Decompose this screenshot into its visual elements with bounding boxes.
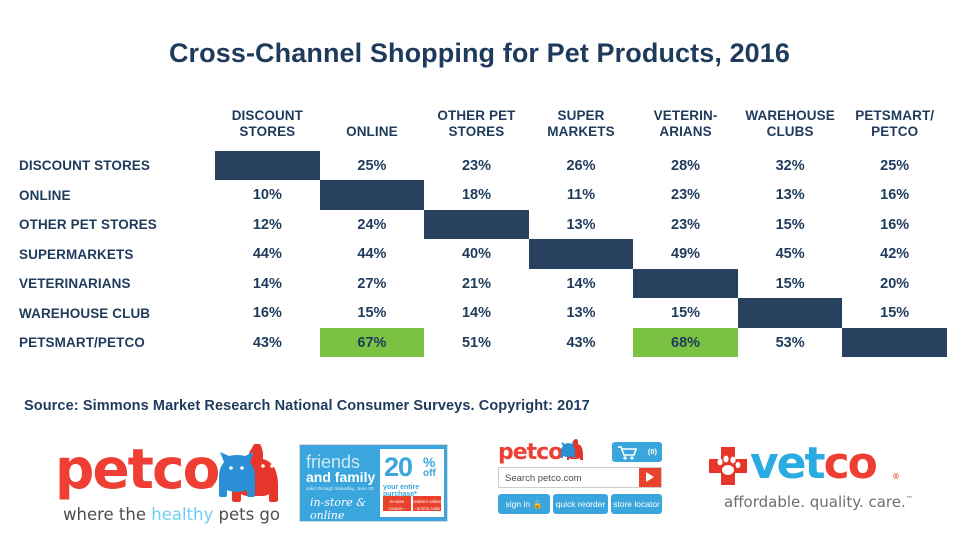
vetco-wordmark: vetco (750, 442, 876, 486)
table-row: ONLINE10%18%11%23%13%16% (12, 180, 947, 210)
matrix-cell: 49% (633, 239, 738, 269)
sign-in-button[interactable]: sign in 🔒 (498, 494, 550, 514)
header-line-2: STORES (239, 124, 295, 139)
header-line-1: WAREHOUSE (745, 108, 834, 123)
header-line-2: STORES (449, 124, 505, 139)
matrix-cell: 53% (738, 328, 843, 358)
row-label-veterinarians: VETERINARIANS (12, 269, 215, 299)
coupon-validity-text: valid through Saturday, June 20 (306, 486, 374, 491)
coupon-off-text: off (423, 469, 436, 479)
matrix-cell: 15% (842, 298, 947, 328)
matrix-cell: 24% (320, 210, 425, 240)
vetco-word-vet: vet (750, 438, 824, 489)
coupon-percent-sign: % (423, 455, 435, 469)
coupon-right-panel: 20 % off your entire purchase* in-store … (380, 449, 444, 517)
matrix-cell: 15% (738, 210, 843, 240)
matrix-cell-highlighted: 68% (633, 328, 738, 358)
row-label-discount-stores: DISCOUNT STORES (12, 151, 215, 181)
vetco-word-co: co (824, 438, 876, 489)
matrix-cell: 40% (424, 239, 529, 269)
in-store-coupon-button[interactable]: in-store coupon › (383, 496, 411, 511)
column-header-discount-stores: DISCOUNT STORES (215, 108, 320, 151)
redeem-online-button[interactable]: redeem online › promo code FRIEND (413, 496, 441, 511)
cross-shopping-matrix: DISCOUNT STORES ONLINE OTHER PET STORES … (12, 108, 947, 357)
table-row: PETSMART/PETCO43%67%51%43%68%53% (12, 328, 947, 358)
matrix-cell: 16% (842, 180, 947, 210)
corner-cell (12, 108, 215, 151)
vetco-logo: vetco ® affordable. quality. care.™ (708, 444, 913, 522)
matrix-cell: 26% (529, 151, 634, 181)
petco-wordmark: petco (55, 442, 218, 497)
friends-family-coupon-banner[interactable]: friends and family valid through Saturda… (299, 444, 448, 522)
slide-root: Cross-Channel Shopping for Pet Products,… (0, 0, 959, 539)
medical-cross-paw-icon (708, 446, 748, 486)
matrix-cell: 14% (529, 269, 634, 299)
search-placeholder-text: Search petco.com (505, 473, 582, 484)
tagline-before: where the (63, 505, 151, 524)
header-line-1: OTHER PET (437, 108, 515, 123)
matrix-cell: 27% (320, 269, 425, 299)
mobile-cat-dog-mascot-icon (558, 439, 585, 461)
row-label-other-pet-stores: OTHER PET STORES (12, 210, 215, 240)
petco-tagline: where the healthy pets go (63, 505, 280, 524)
vetco-registered-mark-icon: ® (893, 472, 899, 481)
lock-icon: 🔒 (532, 500, 542, 509)
matrix-cell: 43% (529, 328, 634, 358)
matrix-cell: 14% (215, 269, 320, 299)
row-label-supermarkets: SUPERMARKETS (12, 239, 215, 269)
header-line-2: PETCO (871, 124, 918, 139)
matrix-cell: 15% (320, 298, 425, 328)
matrix-body: DISCOUNT STORES25%23%26%28%32%25%ONLINE1… (12, 151, 947, 358)
header-line-2: CLUBS (767, 124, 814, 139)
matrix-cell: 23% (424, 151, 529, 181)
table-row: VETERINARIANS14%27%21%14%15%20% (12, 269, 947, 299)
matrix-cell-highlighted: 67% (320, 328, 425, 358)
store-locator-button[interactable]: store locator (611, 494, 662, 514)
matrix-cell: 23% (633, 180, 738, 210)
cart-count-label: (0) (648, 447, 657, 456)
matrix-cell: 16% (842, 210, 947, 240)
coupon-channel-text: in-store & online (310, 496, 378, 522)
page-title: Cross-Channel Shopping for Pet Products,… (0, 38, 959, 69)
column-header-veterinarians: VETERIN- ARIANS (633, 108, 738, 151)
matrix-cell: 44% (215, 239, 320, 269)
matrix-cell: 28% (633, 151, 738, 181)
vetco-tagline-text: affordable. quality. care. (724, 493, 906, 511)
source-note: Source: Simmons Market Research National… (24, 398, 590, 414)
matrix-cell-blocked (424, 210, 529, 240)
header-line-1: DISCOUNT (232, 108, 303, 123)
matrix-cell-blocked (320, 180, 425, 210)
matrix-cell: 18% (424, 180, 529, 210)
matrix-cell: 13% (529, 298, 634, 328)
matrix-cell: 14% (424, 298, 529, 328)
matrix-cell: 11% (529, 180, 634, 210)
matrix-cell: 25% (320, 151, 425, 181)
matrix-cell: 10% (215, 180, 320, 210)
header-line-1: VETERIN- (654, 108, 718, 123)
column-header-other-pet-stores: OTHER PET STORES (424, 108, 529, 151)
cat-dog-mascot-icon (210, 444, 282, 502)
matrix-cell: 45% (738, 239, 843, 269)
matrix-cell: 21% (424, 269, 529, 299)
cart-button[interactable]: (0) (612, 442, 662, 462)
matrix-cell: 15% (738, 269, 843, 299)
matrix-cell: 51% (424, 328, 529, 358)
matrix-cell-blocked (633, 269, 738, 299)
matrix-header-row: DISCOUNT STORES ONLINE OTHER PET STORES … (12, 108, 947, 151)
column-header-warehouse-clubs: WAREHOUSE CLUBS (738, 108, 843, 151)
matrix-cell-blocked (215, 151, 320, 181)
search-submit-button[interactable] (639, 468, 661, 487)
sign-in-label: sign in (506, 499, 531, 509)
matrix-cell: 44% (320, 239, 425, 269)
matrix-cell: 23% (633, 210, 738, 240)
coupon-discount-number: 20 (384, 454, 412, 481)
coupon-left-panel: friends and family valid through Saturda… (300, 445, 378, 521)
matrix-cell-blocked (738, 298, 843, 328)
matrix-cell: 20% (842, 269, 947, 299)
header-line-2: MARKETS (547, 124, 614, 139)
row-label-petsmart-petco: PETSMART/PETCO (12, 328, 215, 358)
mobile-petco-wordmark: petco (498, 442, 562, 464)
column-header-online: ONLINE (320, 108, 425, 151)
column-header-super-markets: SUPER MARKETS (529, 108, 634, 151)
table-row: SUPERMARKETS44%44%40%49%45%42% (12, 239, 947, 269)
matrix-cell: 12% (215, 210, 320, 240)
play-arrow-icon (646, 472, 654, 482)
header-line-1: ONLINE (346, 124, 398, 139)
row-label-warehouse-club: WAREHOUSE CLUB (12, 298, 215, 328)
matrix-cell: 43% (215, 328, 320, 358)
matrix-cell-blocked (842, 328, 947, 358)
matrix-cell-blocked (529, 239, 634, 269)
matrix-cell: 32% (738, 151, 843, 181)
header-line-2: ARIANS (659, 124, 711, 139)
matrix-cell: 25% (842, 151, 947, 181)
trademark-icon: ™ (906, 495, 913, 503)
matrix-cell: 13% (738, 180, 843, 210)
table-row: OTHER PET STORES12%24%13%23%15%16% (12, 210, 947, 240)
tagline-after: pets go (213, 505, 280, 524)
matrix-cell: 16% (215, 298, 320, 328)
matrix-cell: 13% (529, 210, 634, 240)
matrix-cell: 15% (633, 298, 738, 328)
table-row: WAREHOUSE CLUB16%15%14%13%15%15% (12, 298, 947, 328)
header-line-1: SUPER (558, 108, 605, 123)
row-label-online: ONLINE (12, 180, 215, 210)
petco-mobile-site-screenshot: petco (0) Search petco.com (492, 436, 667, 526)
table-row: DISCOUNT STORES25%23%26%28%32%25% (12, 151, 947, 181)
petco-logo: petco ® where the healthy pets go (55, 442, 285, 534)
search-input[interactable]: Search petco.com (498, 467, 662, 488)
coupon-and-family-text: and family (306, 470, 375, 484)
header-line-1: PETSMART/ (855, 108, 934, 123)
matrix-cell: 42% (842, 239, 947, 269)
quick-reorder-button[interactable]: quick reorder (553, 494, 608, 514)
tagline-highlight: healthy (151, 505, 213, 524)
logo-strip: petco ® where the healthy pets go (0, 432, 959, 539)
column-header-petsmart-petco: PETSMART/ PETCO (842, 108, 947, 151)
vetco-tagline: affordable. quality. care.™ (724, 493, 913, 511)
